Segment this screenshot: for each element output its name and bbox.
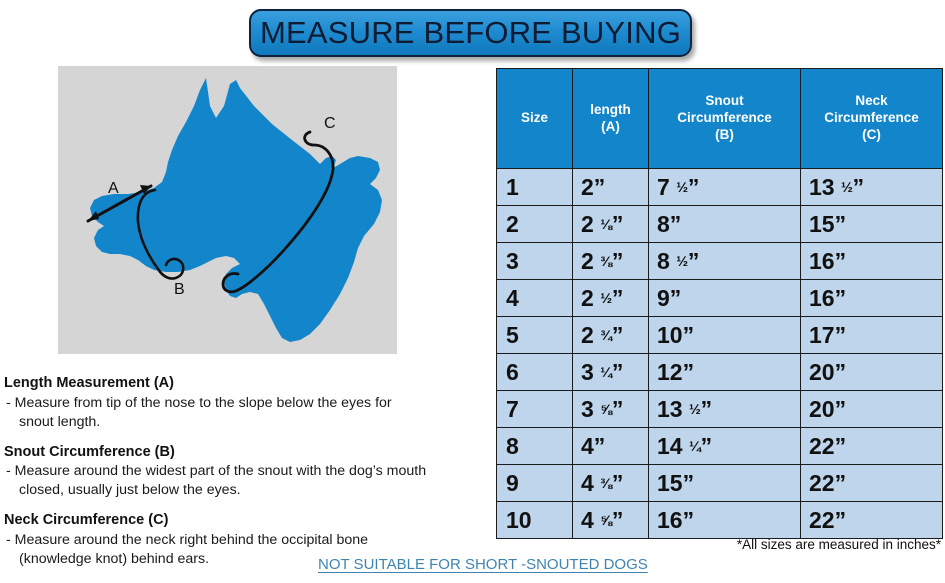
cell-neck-4: 16” <box>801 280 943 317</box>
cell-length-2-value: 2 <box>581 211 594 237</box>
cell-size-7-value: 7 <box>506 396 519 422</box>
cell-length-3-fraction: ⅜ <box>600 255 612 269</box>
column-header-snout-line3: (B) <box>651 127 798 144</box>
cell-neck-1: 13 ½” <box>801 169 943 206</box>
cell-neck-9-unit: ” <box>835 470 846 496</box>
cell-snout-9-unit: ” <box>683 470 694 496</box>
cell-neck-8-value: 22 <box>809 433 835 459</box>
cell-length-8-value: 4 <box>581 433 594 459</box>
cell-snout-7-unit: ” <box>701 396 712 422</box>
cell-snout-8-unit: ” <box>701 433 712 459</box>
cell-length-7-unit: ” <box>612 396 623 422</box>
table-header-row: Size length (A) Snout Circumference (B) … <box>497 69 943 169</box>
cell-snout-3-unit: ” <box>688 248 699 274</box>
cell-neck-6-unit: ” <box>835 359 846 385</box>
cell-neck-6-value: 20 <box>809 359 835 385</box>
table-footnote: *All sizes are measured in inches* <box>737 537 941 552</box>
cell-length-5: 2 ¾” <box>573 317 649 354</box>
size-chart-table-container: Size length (A) Snout Circumference (B) … <box>496 68 942 539</box>
cell-snout-8-fraction: ¼ <box>689 440 701 454</box>
cell-neck-10: 22” <box>801 502 943 539</box>
table-row: 73 ⅝”13 ½”20” <box>497 391 943 428</box>
cell-snout-2: 8” <box>649 206 801 243</box>
cell-neck-1-unit: ” <box>853 174 864 200</box>
cell-size-6-value: 6 <box>506 359 519 385</box>
column-header-neck-line2: Circumference <box>803 110 940 127</box>
cell-snout-3-value: 8 <box>657 248 670 274</box>
table-row: 32 ⅜”8 ½”16” <box>497 243 943 280</box>
cell-snout-4-unit: ” <box>670 285 681 311</box>
instruction-neck-line1: - Measure around the neck right behind t… <box>6 532 368 548</box>
cell-snout-6-value: 12 <box>657 359 683 385</box>
cell-neck-5: 17” <box>801 317 943 354</box>
cell-neck-3-unit: ” <box>835 248 846 274</box>
dog-measurement-diagram: A B C <box>58 66 397 354</box>
cell-neck-4-unit: ” <box>835 285 846 311</box>
cell-length-10: 4 ⅝” <box>573 502 649 539</box>
instruction-heading-snout: Snout Circumference (B) <box>4 443 484 462</box>
cell-snout-4-value: 9 <box>657 285 670 311</box>
cell-length-4-unit: ” <box>612 285 623 311</box>
cell-length-10-unit: ” <box>612 507 623 533</box>
cell-size-1: 1 <box>497 169 573 206</box>
cell-length-1-unit: ” <box>594 174 605 200</box>
cell-length-4: 2 ½” <box>573 280 649 317</box>
cell-length-9-fraction: ⅜ <box>600 477 612 491</box>
cell-snout-6: 12” <box>649 354 801 391</box>
cell-length-3-value: 2 <box>581 248 594 274</box>
size-chart-table-body: 12”7 ½”13 ½”22 ⅛”8”15”32 ⅜”8 ½”16”42 ½”9… <box>497 169 943 539</box>
cell-length-8-unit: ” <box>594 433 605 459</box>
cell-neck-7-value: 20 <box>809 396 835 422</box>
cell-snout-8-value: 14 <box>657 433 683 459</box>
cell-neck-10-value: 22 <box>809 507 835 533</box>
cell-length-8: 4” <box>573 428 649 465</box>
column-header-size-line1: Size <box>499 110 570 127</box>
cell-snout-1-value: 7 <box>657 174 670 200</box>
cell-length-10-fraction: ⅝ <box>600 514 612 528</box>
cell-snout-3-fraction: ½ <box>676 255 688 269</box>
column-header-neck-line3: (C) <box>803 127 940 144</box>
not-suitable-notice[interactable]: NOT SUITABLE FOR SHORT -SNOUTED DOGS <box>318 556 648 573</box>
cell-snout-5-value: 10 <box>657 322 683 348</box>
dog-head-silhouette <box>90 78 382 342</box>
page-title: MEASURE BEFORE BUYING <box>260 15 681 51</box>
column-header-length: length (A) <box>573 69 649 169</box>
title-banner: MEASURE BEFORE BUYING <box>249 9 692 57</box>
cell-size-8: 8 <box>497 428 573 465</box>
cell-length-5-value: 2 <box>581 322 594 348</box>
cell-snout-7: 13 ½” <box>649 391 801 428</box>
cell-neck-10-unit: ” <box>835 507 846 533</box>
cell-neck-1-fraction: ½ <box>841 181 853 195</box>
cell-length-9-value: 4 <box>581 470 594 496</box>
dog-head-illustration: A B C <box>58 66 397 354</box>
cell-size-4: 4 <box>497 280 573 317</box>
cell-snout-2-value: 8 <box>657 211 670 237</box>
table-row: 63 ¼”12”20” <box>497 354 943 391</box>
column-header-length-line1: length <box>575 102 646 119</box>
instruction-snout-line2: closed, usually just below the eyes. <box>6 481 484 500</box>
cell-length-2-fraction: ⅛ <box>600 218 612 232</box>
cell-neck-8-unit: ” <box>835 433 846 459</box>
cell-snout-5-unit: ” <box>683 322 694 348</box>
cell-length-7-fraction: ⅝ <box>600 403 612 417</box>
cell-neck-3: 16” <box>801 243 943 280</box>
size-chart-table: Size length (A) Snout Circumference (B) … <box>496 68 943 539</box>
cell-snout-2-unit: ” <box>670 211 681 237</box>
column-header-snout-line2: Circumference <box>651 110 798 127</box>
cell-size-5-value: 5 <box>506 322 519 348</box>
table-row: 104 ⅝”16”22” <box>497 502 943 539</box>
instruction-heading-length: Length Measurement (A) <box>4 374 484 393</box>
measurement-instructions: Length Measurement (A) - Measure from ti… <box>4 374 484 580</box>
cell-length-9-unit: ” <box>612 470 623 496</box>
column-header-snout-line1: Snout <box>651 93 798 110</box>
instruction-heading-neck: Neck Circumference (C) <box>4 511 484 530</box>
diagram-label-a: A <box>108 180 119 197</box>
cell-length-7-value: 3 <box>581 396 594 422</box>
instruction-block-length: Length Measurement (A) - Measure from ti… <box>4 374 484 432</box>
cell-neck-2-unit: ” <box>835 211 846 237</box>
column-header-neck: Neck Circumference (C) <box>801 69 943 169</box>
cell-size-5: 5 <box>497 317 573 354</box>
cell-size-1-value: 1 <box>506 174 519 200</box>
table-row: 12”7 ½”13 ½” <box>497 169 943 206</box>
cell-neck-2-value: 15 <box>809 211 835 237</box>
instruction-body-length: - Measure from tip of the nose to the sl… <box>4 394 484 432</box>
diagram-label-b: B <box>174 281 185 298</box>
cell-neck-6: 20” <box>801 354 943 391</box>
cell-snout-10-value: 16 <box>657 507 683 533</box>
cell-snout-8: 14 ¼” <box>649 428 801 465</box>
cell-length-5-fraction: ¾ <box>600 329 612 343</box>
cell-neck-5-value: 17 <box>809 322 835 348</box>
instruction-body-snout: - Measure around the widest part of the … <box>4 462 484 500</box>
cell-neck-8: 22” <box>801 428 943 465</box>
cell-snout-4: 9” <box>649 280 801 317</box>
cell-snout-3: 8 ½” <box>649 243 801 280</box>
cell-neck-2: 15” <box>801 206 943 243</box>
cell-length-6-fraction: ¼ <box>600 366 612 380</box>
cell-size-8-value: 8 <box>506 433 519 459</box>
table-row: 52 ¾”10”17” <box>497 317 943 354</box>
cell-length-9: 4 ⅜” <box>573 465 649 502</box>
cell-size-6: 6 <box>497 354 573 391</box>
cell-neck-4-value: 16 <box>809 285 835 311</box>
cell-length-10-value: 4 <box>581 507 594 533</box>
cell-length-6-unit: ” <box>612 359 623 385</box>
cell-size-3: 3 <box>497 243 573 280</box>
column-header-neck-line1: Neck <box>803 93 940 110</box>
cell-size-3-value: 3 <box>506 248 519 274</box>
cell-length-4-value: 2 <box>581 285 594 311</box>
cell-size-10: 10 <box>497 502 573 539</box>
cell-snout-7-fraction: ½ <box>689 403 701 417</box>
cell-length-7: 3 ⅝” <box>573 391 649 428</box>
instruction-length-line1: - Measure from tip of the nose to the sl… <box>6 395 392 411</box>
cell-length-3: 2 ⅜” <box>573 243 649 280</box>
cell-length-4-fraction: ½ <box>600 292 612 306</box>
cell-length-1: 2” <box>573 169 649 206</box>
cell-size-9: 9 <box>497 465 573 502</box>
cell-neck-1-value: 13 <box>809 174 835 200</box>
table-row: 84”14 ¼”22” <box>497 428 943 465</box>
cell-snout-1-unit: ” <box>688 174 699 200</box>
cell-neck-5-unit: ” <box>835 322 846 348</box>
cell-neck-3-value: 16 <box>809 248 835 274</box>
cell-size-10-value: 10 <box>506 507 532 533</box>
cell-length-1-value: 2 <box>581 174 594 200</box>
cell-length-2-unit: ” <box>612 211 623 237</box>
diagram-label-c: C <box>324 115 336 132</box>
cell-size-2-value: 2 <box>506 211 519 237</box>
cell-length-6-value: 3 <box>581 359 594 385</box>
instruction-length-line2: snout length. <box>6 413 484 432</box>
cell-length-5-unit: ” <box>612 322 623 348</box>
cell-snout-10: 16” <box>649 502 801 539</box>
column-header-size: Size <box>497 69 573 169</box>
cell-size-4-value: 4 <box>506 285 519 311</box>
column-header-snout: Snout Circumference (B) <box>649 69 801 169</box>
cell-snout-9: 15” <box>649 465 801 502</box>
cell-snout-1-fraction: ½ <box>676 181 688 195</box>
cell-length-2: 2 ⅛” <box>573 206 649 243</box>
cell-snout-5: 10” <box>649 317 801 354</box>
cell-length-6: 3 ¼” <box>573 354 649 391</box>
instruction-block-snout: Snout Circumference (B) - Measure around… <box>4 443 484 501</box>
cell-neck-9-value: 22 <box>809 470 835 496</box>
cell-neck-7-unit: ” <box>835 396 846 422</box>
column-header-length-line2: (A) <box>575 119 646 136</box>
cell-snout-1: 7 ½” <box>649 169 801 206</box>
cell-snout-6-unit: ” <box>683 359 694 385</box>
cell-snout-10-unit: ” <box>683 507 694 533</box>
cell-neck-9: 22” <box>801 465 943 502</box>
table-row: 94 ⅜”15”22” <box>497 465 943 502</box>
table-row: 42 ½”9”16” <box>497 280 943 317</box>
instruction-snout-line1: - Measure around the widest part of the … <box>6 463 426 479</box>
cell-neck-7: 20” <box>801 391 943 428</box>
table-row: 22 ⅛”8”15” <box>497 206 943 243</box>
cell-snout-7-value: 13 <box>657 396 683 422</box>
cell-size-2: 2 <box>497 206 573 243</box>
cell-size-9-value: 9 <box>506 470 519 496</box>
cell-length-3-unit: ” <box>612 248 623 274</box>
cell-size-7: 7 <box>497 391 573 428</box>
cell-snout-9-value: 15 <box>657 470 683 496</box>
